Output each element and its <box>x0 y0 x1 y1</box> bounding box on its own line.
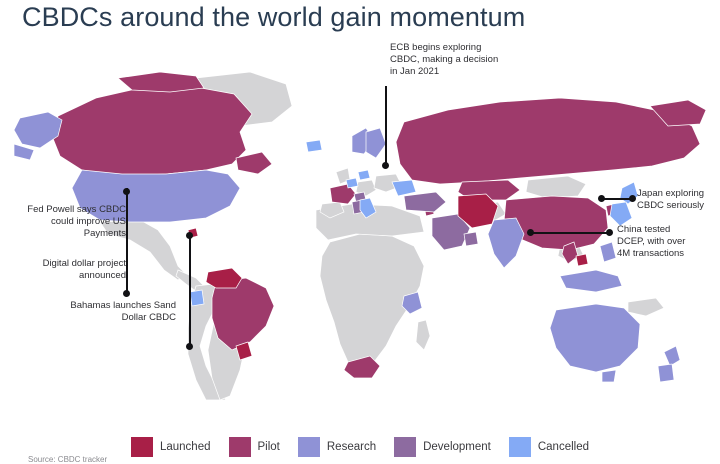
legend-swatch-research <box>298 437 320 457</box>
region-ecuador <box>190 290 204 306</box>
region-new-zealand <box>664 346 680 366</box>
legend: Launched Pilot Research Development Canc… <box>0 432 720 461</box>
legend-swatch-pilot <box>229 437 251 457</box>
legend-swatch-launched <box>131 437 153 457</box>
region-ukraine <box>392 180 416 196</box>
region-tasmania <box>602 370 616 382</box>
legend-item-development[interactable]: Development <box>394 437 491 457</box>
legend-item-research[interactable]: Research <box>298 437 376 457</box>
legend-label-development: Development <box>423 441 491 453</box>
leader-line-china <box>530 232 610 234</box>
region-iceland <box>306 140 322 152</box>
legend-label-pilot: Pilot <box>258 441 280 453</box>
leader-dot-japan-right <box>629 195 636 202</box>
region-india <box>488 218 524 268</box>
region-canada <box>52 86 252 176</box>
legend-item-pilot[interactable]: Pilot <box>229 437 280 457</box>
leader-dot-fed <box>123 188 130 195</box>
region-venezuela <box>206 268 242 288</box>
leader-dot-bahamas-top <box>186 232 193 239</box>
leader-dot-bahamas-bottom <box>186 343 193 350</box>
leader-dot-japan-left <box>598 195 605 202</box>
region-papua <box>628 298 664 316</box>
region-canada-east <box>236 152 272 174</box>
annotation-ecb: ECB begins exploring CBDC, making a deci… <box>390 42 550 79</box>
region-indonesia <box>560 270 622 292</box>
infographic: CBDCs around the world gain momentum <box>0 0 720 461</box>
leader-line-fed <box>126 188 128 250</box>
region-sweden <box>366 128 386 158</box>
leader-dot-digital-dollar <box>123 290 130 297</box>
legend-swatch-cancelled <box>509 437 531 457</box>
region-madagascar <box>416 320 430 350</box>
region-benelux <box>346 178 358 188</box>
region-japan-south <box>610 202 632 226</box>
region-canada-arctic <box>118 72 204 92</box>
leader-line-ecb <box>385 86 387 166</box>
leader-dot-china-left <box>527 229 534 236</box>
annotation-digital-dollar: Digital dollar project announced <box>8 258 126 282</box>
leader-dot-ecb <box>382 162 389 169</box>
region-denmark <box>358 170 370 180</box>
region-alaska-aleut <box>14 144 34 160</box>
legend-label-cancelled: Cancelled <box>538 441 589 453</box>
legend-label-research: Research <box>327 441 376 453</box>
region-australia <box>550 304 640 372</box>
leader-line-digital-dollar <box>126 250 128 294</box>
region-uae <box>464 232 478 246</box>
region-brazil <box>212 278 274 350</box>
page-title: CBDCs around the world gain momentum <box>22 2 525 33</box>
region-philippines <box>600 242 616 262</box>
legend-label-launched: Launched <box>160 441 211 453</box>
source-note: Source: CBDC tracker <box>28 455 107 464</box>
legend-item-launched[interactable]: Launched <box>131 437 211 457</box>
region-mongolia <box>526 176 586 198</box>
annotation-bahamas: Bahamas launches Sand Dollar CBDC <box>56 300 176 324</box>
leader-line-bahamas <box>189 236 191 346</box>
region-new-zealand-s <box>658 364 674 382</box>
annotation-china: China tested DCEP, with over 4M transact… <box>617 224 717 261</box>
region-turkey <box>404 192 446 212</box>
legend-swatch-development <box>394 437 416 457</box>
region-cambodia <box>576 254 588 266</box>
leader-dot-china-right <box>606 229 613 236</box>
legend-item-cancelled[interactable]: Cancelled <box>509 437 589 457</box>
annotation-japan: Japan exploring CBDC seriously <box>637 188 719 212</box>
annotation-fed: Fed Powell says CBDC could improve US Pa… <box>8 204 126 241</box>
